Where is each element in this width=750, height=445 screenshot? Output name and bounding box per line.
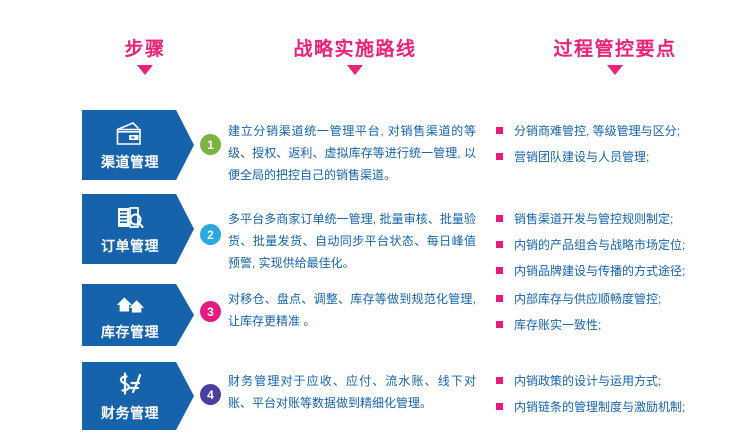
table-row: 库存管理 3 对移仓、盘点、调整、库存等做到规范化管理, 让库存更精准 。 内部… [0,284,750,346]
column-header-control-points-title: 过程管控要点 [490,38,740,62]
list-item-label: 内销政策的设计与运用方式; [514,374,661,388]
control-points-list: 内部库存与供应顺畅度管控; 库存账实一致性; [496,286,746,338]
wallet-icon [114,119,146,149]
stage-label: 库存管理 [101,322,159,342]
caret-down-icon [347,65,363,75]
list-item: 库存账实一致性; [496,312,746,338]
table-row: 渠道管理 1 建立分销渠道统一管理平台, 对销售渠道的等级、授权、返利、虚拟库存… [0,108,750,184]
square-bullet-icon [496,295,503,302]
square-bullet-icon [496,267,503,274]
list-item-label: 内销的产品组合与战略市场定位; [514,238,685,252]
control-points-list: 分销商难管控, 等级管理与区分; 营销团队建设与人员管理; [496,118,746,170]
control-points-list: 内销政策的设计与运用方式; 内销链条的管理制度与激励机制; [496,368,746,420]
control-points-list: 销售渠道开发与管控规则制定; 内销的产品组合与战略市场定位; 内销品牌建设与传播… [496,206,746,284]
stage-label: 订单管理 [101,236,159,256]
list-item-label: 营销团队建设与人员管理; [514,150,649,164]
table-row: 财务管理 4 财务管理对于应收、应付、流水账、线下对账、平台对账等数据做到精细化… [0,360,750,430]
square-bullet-icon [496,377,503,384]
infographic-page: 步骤 战略实施路线 过程管控要点 [0,0,750,445]
list-item-label: 销售渠道开发与管控规则制定; [514,212,673,226]
square-bullet-icon [496,321,503,328]
square-bullet-icon [496,403,503,410]
square-bullet-icon [496,153,503,160]
column-headers: 步骤 战略实施路线 过程管控要点 [0,38,750,88]
list-item: 内部库存与供应顺畅度管控; [496,286,746,312]
stage-badge-inventory-management[interactable]: 库存管理 [82,284,194,346]
square-bullet-icon [496,215,503,222]
caret-down-icon [607,65,623,75]
list-item-label: 分销商难管控, 等级管理与区分; [514,124,680,138]
currency-icon [114,370,146,400]
document-search-icon [114,203,146,233]
column-header-steps: 步骤 [70,38,220,75]
list-item-label: 内销品牌建设与传播的方式途径; [514,264,685,278]
square-bullet-icon [496,127,503,134]
list-item: 营销团队建设与人员管理; [496,144,746,170]
column-header-strategy-title: 战略实施路线 [230,38,480,62]
list-item-label: 库存账实一致性; [514,318,601,332]
stage-description: 财务管理对于应收、应付、流水账、线下对账、平台对账等数据做到精细化管理。 [228,370,476,414]
stage-badge-channel-management[interactable]: 渠道管理 [82,110,194,180]
list-item-label: 内销链条的管理制度与激励机制; [514,400,685,414]
stage-badge-finance-management[interactable]: 财务管理 [82,362,194,430]
step-number-badge: 1 [200,134,221,155]
step-number-badge: 2 [200,224,221,245]
list-item: 分销商难管控, 等级管理与区分; [496,118,746,144]
column-header-steps-title: 步骤 [70,38,220,62]
list-item-label: 内部库存与供应顺畅度管控; [514,292,661,306]
caret-down-icon [137,65,153,75]
column-header-strategy: 战略实施路线 [230,38,480,75]
stage-badge-order-management[interactable]: 订单管理 [82,194,194,264]
stage-label: 渠道管理 [101,152,159,172]
list-item: 内销品牌建设与传播的方式途径; [496,258,746,284]
column-header-control-points: 过程管控要点 [490,38,740,75]
list-item: 销售渠道开发与管控规则制定; [496,206,746,232]
stage-label: 财务管理 [101,403,159,423]
stage-description: 对移仓、盘点、调整、库存等做到规范化管理, 让库存更精准 。 [228,288,476,332]
square-bullet-icon [496,241,503,248]
list-item: 内销政策的设计与运用方式; [496,368,746,394]
step-number-badge: 4 [200,384,221,405]
step-number-badge: 3 [200,301,221,322]
stage-description: 建立分销渠道统一管理平台, 对销售渠道的等级、授权、返利、虚拟库存等进行统一管理… [228,120,476,186]
warehouse-icon [114,289,146,319]
list-item: 内销链条的管理制度与激励机制; [496,394,746,420]
list-item: 内销的产品组合与战略市场定位; [496,232,746,258]
stage-description: 多平台多商家订单统一管理, 批量审核、批量验货、批量发货、自动同步平台状态、每日… [228,208,476,274]
table-row: 订单管理 2 多平台多商家订单统一管理, 批量审核、批量验货、批量发货、自动同步… [0,192,750,276]
